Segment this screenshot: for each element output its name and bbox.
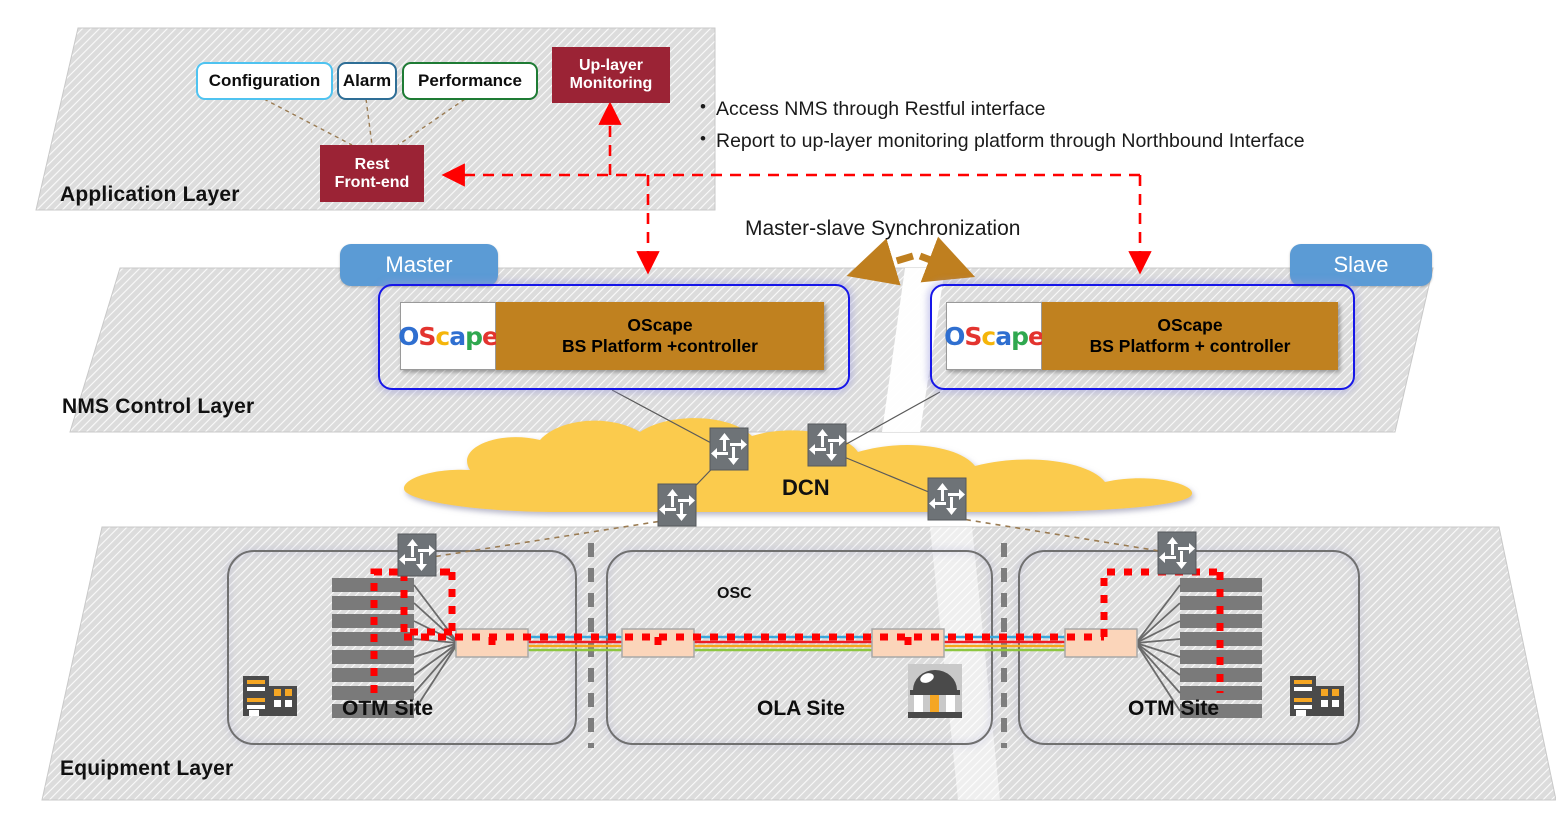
bullet-item-2: • Report to up-layer monitoring platform… [700,130,1305,153]
router-icon-dcn-top-left[interactable] [710,428,748,470]
rest-front-end-line1: Rest [355,156,390,174]
diagram-canvas: Application Layer Configuration Alarm Pe… [0,0,1556,820]
layer-label-application: Application Layer [60,183,240,207]
master-slave-sync-arrow [860,256,962,272]
router-icon-otm-right[interactable] [1158,532,1196,574]
rest-front-end-line2: Front-end [335,174,410,192]
master-platform-text: OScape BS Platform +controller [496,302,824,370]
app-box-performance[interactable]: Performance [402,62,538,100]
router-icon-otm-left[interactable] [398,534,436,576]
slave-role-pill[interactable]: Slave [1290,244,1432,286]
osc-label: OSC [717,585,752,603]
app-box-alarm[interactable]: Alarm [337,62,397,100]
master-slave-sync-label: Master-slave Synchronization [745,217,1020,241]
slave-platform-title: OScape [1157,315,1222,336]
master-role-pill[interactable]: Master [340,244,498,286]
oscape-logo-slave: OScape [946,302,1042,370]
bullet-text-2: Report to up-layer monitoring platform t… [716,130,1305,153]
bullet-marker: • [700,98,716,117]
master-role-label: Master [385,252,452,278]
bullet-text-1: Access NMS through Restful interface [716,98,1045,121]
annotation-bullet-list: • Access NMS through Restful interface •… [700,98,1305,162]
dcn-to-site-links [432,518,1178,557]
master-platform-frame[interactable]: OScape OScape BS Platform +controller [378,284,850,390]
up-layer-monitoring-line1: Up-layer [579,57,643,75]
oscape-logo-text: OScape [944,324,1044,349]
slave-role-label: Slave [1333,252,1388,278]
rest-front-end-box[interactable]: Rest Front-end [320,145,424,202]
router-icon-dcn-bottom-right[interactable] [928,478,966,520]
up-layer-monitoring-box[interactable]: Up-layer Monitoring [552,47,670,103]
slave-platform-subtitle: BS Platform + controller [1090,336,1291,357]
app-box-links [264,99,465,145]
layer-label-equipment: Equipment Layer [60,757,233,781]
slave-platform-frame[interactable]: OScape OScape BS Platform + controller [930,284,1355,390]
bullet-item-1: • Access NMS through Restful interface [700,98,1305,121]
app-box-configuration-label: Configuration [209,71,320,91]
bullet-marker: • [700,130,716,149]
master-platform-card[interactable]: OScape OScape BS Platform +controller [400,302,824,370]
oscape-logo-master: OScape [400,302,496,370]
app-box-alarm-label: Alarm [343,71,391,91]
master-platform-title: OScape [627,315,692,336]
oscape-logo-text: OScape [398,324,498,349]
router-icon-dcn-top-right[interactable] [808,424,846,466]
layer-label-nms-control: NMS Control Layer [62,395,254,419]
app-box-configuration[interactable]: Configuration [196,62,333,100]
app-box-performance-label: Performance [418,71,522,91]
router-icon-dcn-bottom-left[interactable] [658,484,696,526]
site-label-ola: OLA Site [757,697,845,721]
site-label-otm-left: OTM Site [342,697,433,721]
slave-platform-card[interactable]: OScape OScape BS Platform + controller [946,302,1338,370]
master-platform-subtitle: BS Platform +controller [562,336,758,357]
dcn-label: DCN [782,475,830,501]
site-label-otm-right: OTM Site [1128,697,1219,721]
slave-platform-text: OScape BS Platform + controller [1042,302,1338,370]
up-layer-monitoring-line2: Monitoring [570,75,653,93]
osc-supervisory-path [374,572,1220,693]
